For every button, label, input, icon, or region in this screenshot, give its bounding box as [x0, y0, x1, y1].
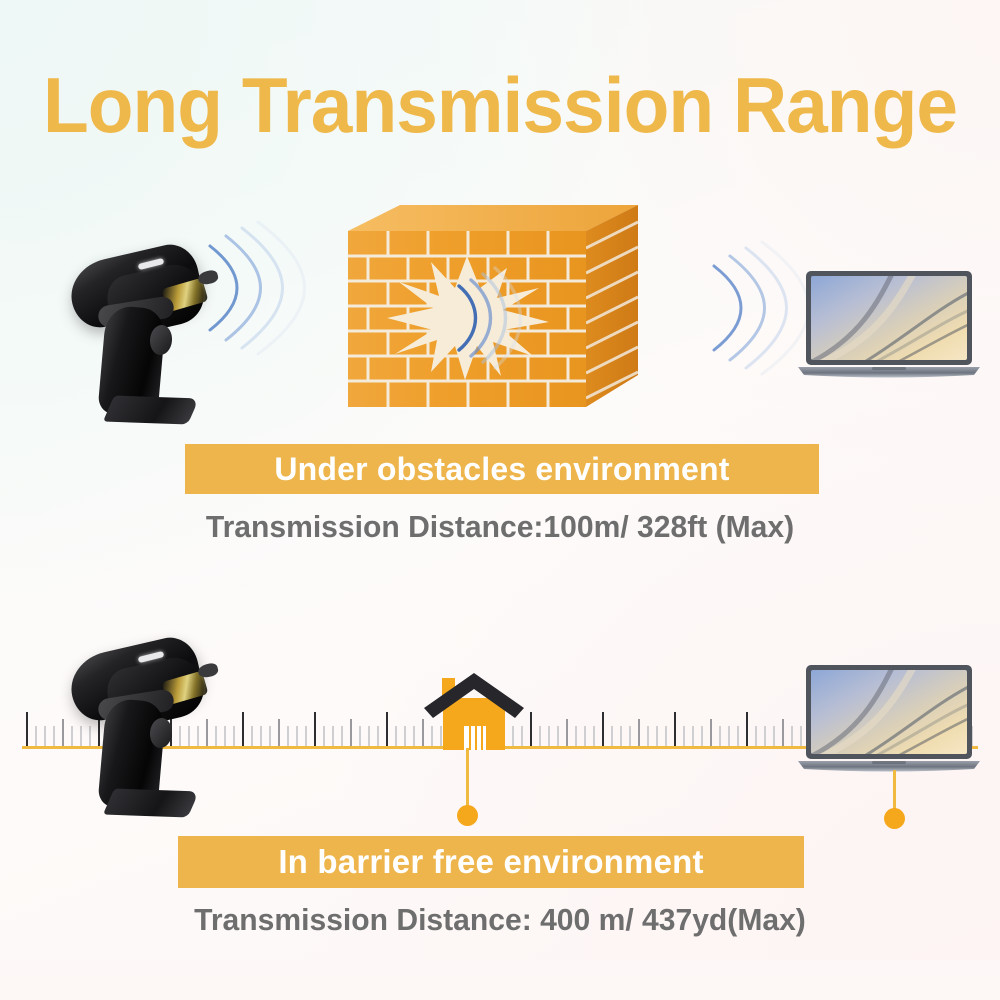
- ruler-tick: [530, 712, 532, 746]
- scanner-trigger: [149, 717, 174, 749]
- ruler-tick: [26, 712, 28, 746]
- ruler-tick: [674, 712, 676, 746]
- ruler-tick: [638, 719, 640, 746]
- house-icon: [424, 668, 530, 750]
- ruler-tick: [260, 726, 262, 746]
- caption-barrier-free: Transmission Distance: 400 m/ 437yd(Max): [151, 901, 849, 939]
- ruler-tick: [737, 726, 739, 746]
- ruler-tick: [710, 719, 712, 746]
- ruler-tick: [377, 726, 379, 746]
- banner-label: In barrier free environment: [278, 843, 703, 881]
- ruler-tick: [647, 726, 649, 746]
- ruler-tick: [755, 726, 757, 746]
- ruler-tick: [341, 726, 343, 746]
- caption-under-obstacles: Transmission Distance:100m/ 328ft (Max): [161, 508, 840, 546]
- ruler-tick: [386, 712, 388, 746]
- ruler-tick: [332, 726, 334, 746]
- ruler-tick: [242, 712, 244, 746]
- ruler-tick: [728, 726, 730, 746]
- ruler-tick: [404, 726, 406, 746]
- house-pin-line: [466, 748, 469, 810]
- ruler-tick: [368, 726, 370, 746]
- page-title: Long Transmission Range: [20, 62, 980, 148]
- banner-label: Under obstacles environment: [274, 451, 729, 488]
- scanner-trigger: [149, 324, 174, 356]
- ruler-tick: [305, 726, 307, 746]
- house-pin-dot: [457, 805, 478, 826]
- ruler-tick: [269, 726, 271, 746]
- bottom-fade: [0, 960, 1000, 1000]
- ruler-tick: [611, 726, 613, 746]
- laptop-pin-dot: [884, 808, 905, 829]
- barcode-scanner-icon-bottom: [62, 638, 232, 823]
- ruler-tick: [35, 726, 37, 746]
- ruler-tick: [683, 726, 685, 746]
- ruler-tick: [395, 726, 397, 746]
- ruler-tick: [764, 726, 766, 746]
- wireless-waves-icon-left: [196, 228, 306, 348]
- scanner-stand: [103, 396, 199, 425]
- ruler-tick: [44, 726, 46, 746]
- ruler-tick: [53, 726, 55, 746]
- ruler-tick: [233, 726, 235, 746]
- wireless-waves-icon-right: [700, 248, 810, 368]
- ruler-tick: [602, 712, 604, 746]
- ruler-tick: [314, 712, 316, 746]
- ruler-tick: [746, 712, 748, 746]
- ruler-tick: [656, 726, 658, 746]
- ruler-tick: [413, 726, 415, 746]
- ruler-tick: [584, 726, 586, 746]
- banner-barrier-free: In barrier free environment: [178, 836, 804, 888]
- ruler-tick: [665, 726, 667, 746]
- ruler-tick: [791, 726, 793, 746]
- ruler-tick: [620, 726, 622, 746]
- ruler-tick: [539, 726, 541, 746]
- laptop-icon-bottom: [798, 662, 980, 774]
- ruler-tick: [575, 726, 577, 746]
- ruler-tick: [566, 719, 568, 746]
- ruler-tick: [701, 726, 703, 746]
- laptop-icon-top: [798, 268, 980, 380]
- ruler-tick: [692, 726, 694, 746]
- ruler-tick: [629, 726, 631, 746]
- ruler-tick: [278, 719, 280, 746]
- banner-under-obstacles: Under obstacles environment: [185, 444, 819, 494]
- ruler-tick: [251, 726, 253, 746]
- ruler-tick: [773, 726, 775, 746]
- laptop-pin-line: [893, 770, 896, 812]
- ruler-tick: [296, 726, 298, 746]
- ruler-tick: [359, 726, 361, 746]
- ruler-tick: [593, 726, 595, 746]
- scanner-stand: [103, 789, 199, 818]
- ruler-tick: [719, 726, 721, 746]
- brick-wall-icon: [348, 205, 638, 420]
- infographic-page: Long Transmission Range: [0, 0, 1000, 1000]
- ruler-tick: [782, 719, 784, 746]
- ruler-tick: [350, 719, 352, 746]
- ruler-tick: [557, 726, 559, 746]
- ruler-tick: [287, 726, 289, 746]
- ruler-tick: [548, 726, 550, 746]
- ruler-tick: [323, 726, 325, 746]
